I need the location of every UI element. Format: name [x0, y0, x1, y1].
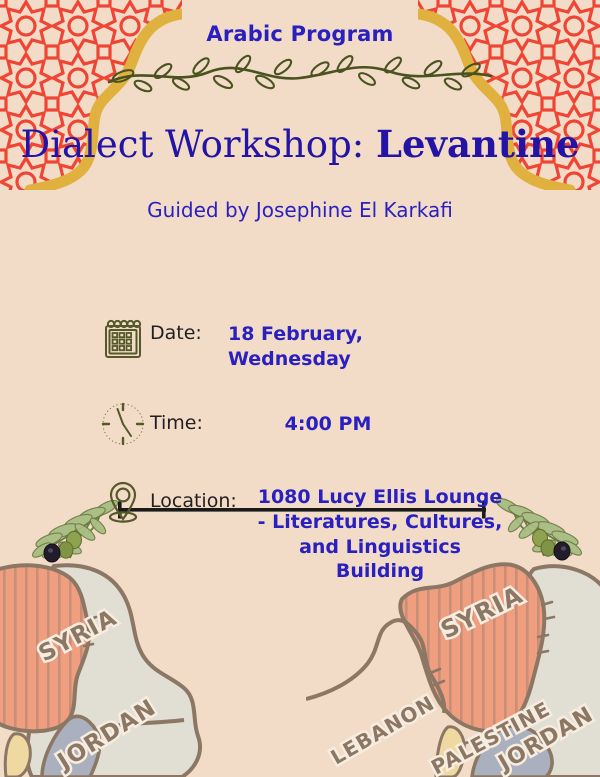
- page-title: Dialect Workshop: Levantine: [0, 125, 600, 165]
- calendar-icon: [96, 318, 150, 360]
- detail-row-date: Date: 18 February, Wednesday: [0, 318, 600, 371]
- main-title-bold: Levantine: [376, 122, 580, 166]
- detail-label-time: Time:: [150, 399, 228, 435]
- poster-canvas: Arabic Program: [0, 0, 600, 777]
- detail-label-location: Location:: [150, 479, 255, 513]
- vine-divider: [105, 52, 495, 100]
- clock-icon: [96, 399, 150, 449]
- detail-value-date: 18 February, Wednesday: [228, 318, 488, 371]
- map-label-lebanon-right: LEBANON: [327, 691, 439, 770]
- subtitle-presenter: Guided by Josephine El Karkafi: [0, 198, 600, 222]
- detail-value-time: 4:00 PM: [228, 399, 428, 437]
- map-region-sand-left: [5, 734, 30, 777]
- map-illustration-right: SYRIA LEBANON PALESTINE JORDAN: [306, 547, 600, 777]
- program-title: Arabic Program: [0, 22, 600, 46]
- map-illustration-left: SYRIA JORDAN: [0, 562, 262, 777]
- location-pin-icon: [96, 479, 150, 525]
- detail-row-time: Time: 4:00 PM: [0, 399, 600, 449]
- detail-label-date: Date:: [150, 318, 228, 345]
- main-title-regular: Dialect Workshop:: [20, 123, 376, 166]
